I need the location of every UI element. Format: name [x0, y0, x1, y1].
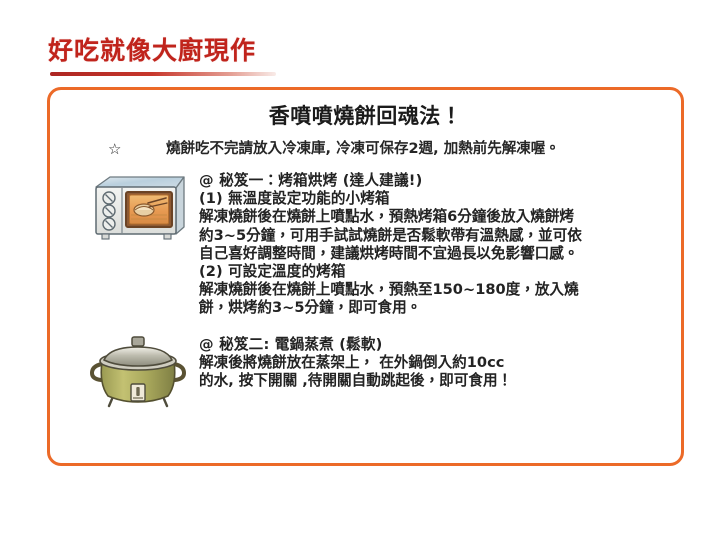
oven-instructions: @ 秘笈一：烤箱烘烤 (達人建議!) (1) 無溫度設定功能的小烤箱 解凍燒餅後… — [199, 172, 679, 318]
header-underline-stroke — [50, 72, 276, 76]
oven-line-5: (2) 可設定溫度的烤箱 — [199, 263, 679, 281]
header-title: 好吃就像大廚現作 — [48, 38, 256, 64]
oven-line-1: (1) 無溫度設定功能的小烤箱 — [199, 190, 679, 208]
oven-line-3: 約3~5分鐘，可用手試試燒餅是否鬆軟帶有溫熱感，並可依 — [199, 227, 679, 245]
cooker-heading: @ 秘笈二: 電鍋蒸煮 (鬆軟) — [199, 336, 679, 354]
star-icon: ☆ — [108, 140, 126, 159]
oven-line-6: 解凍燒餅後在燒餅上噴點水，預熱至150~180度，放入燒 — [199, 281, 679, 299]
rice-cooker-instructions: @ 秘笈二: 電鍋蒸煮 (鬆軟) 解凍後將燒餅放在蒸架上， 在外鍋倒入約10cc… — [199, 336, 679, 391]
toaster-oven-illustration — [86, 170, 190, 252]
freeze-note-text: 燒餅吃不完請放入冷凍庫, 冷凍可保存2週, 加熱前先解凍喔。 — [166, 140, 560, 158]
oven-line-7: 餅，烘烤約3~5分鐘，即可食用。 — [199, 299, 679, 317]
oven-heading: @ 秘笈一：烤箱烘烤 (達人建議!) — [199, 172, 679, 190]
oven-line-4: 自己喜好調整時間，建議烘烤時間不宜過長以免影響口感。 — [199, 245, 679, 263]
oven-line-2: 解凍燒餅後在燒餅上噴點水，預熱烤箱6分鐘後放入燒餅烤 — [199, 208, 679, 226]
cooker-line-2: 的水, 按下開關 ,待開關自動跳起後，即可食用！ — [199, 372, 679, 390]
freeze-note-row: ☆ 燒餅吃不完請放入冷凍庫, 冷凍可保存2週, 加熱前先解凍喔。 — [108, 140, 668, 159]
recipe-title: 香噴噴燒餅回魂法！ — [47, 100, 684, 130]
slide-canvas: 好吃就像大廚現作 香噴噴燒餅回魂法！ ☆ 燒餅吃不完請放入冷凍庫, 冷凍可保存2… — [0, 0, 728, 546]
cooker-line-1: 解凍後將燒餅放在蒸架上， 在外鍋倒入約10cc — [199, 354, 679, 372]
rice-cooker-illustration — [86, 334, 190, 414]
